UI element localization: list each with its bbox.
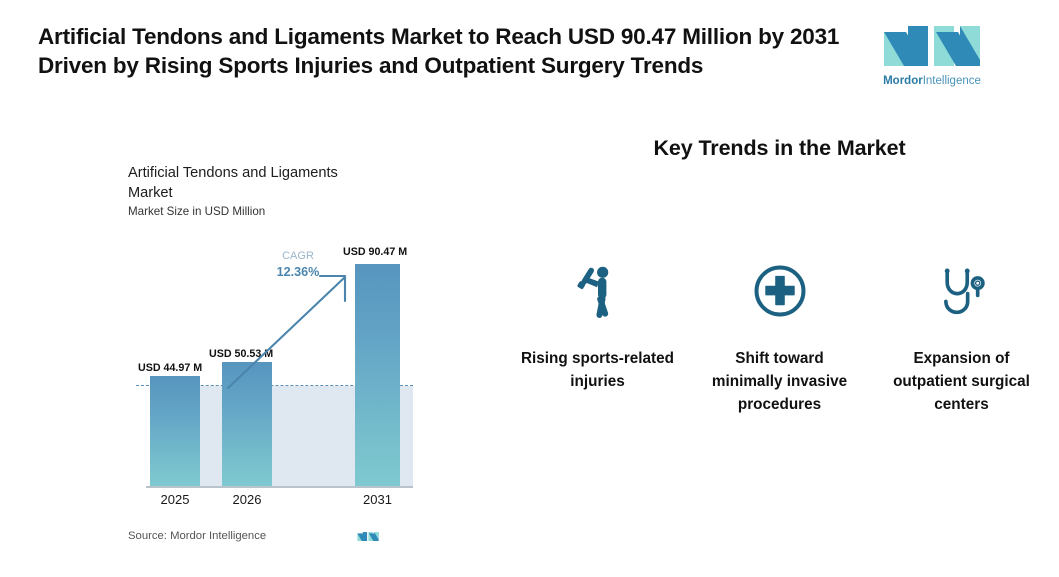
trend-label-outpatient-centers: Expansion of outpatient surgical centers bbox=[882, 347, 1042, 416]
trend-label-minimally-invasive: Shift toward minimally invasive procedur… bbox=[700, 347, 860, 416]
mordor-logo-mark-small bbox=[356, 528, 380, 545]
trend-card-sports-injuries: Rising sports-related injuries bbox=[510, 260, 685, 393]
trend-card-minimally-invasive: Shift toward minimally invasive procedur… bbox=[692, 260, 867, 416]
growth-arrow-icon bbox=[224, 256, 360, 396]
chart-source-text: Source: Mordor Intelligence bbox=[128, 530, 266, 542]
x-tick-2025: 2025 bbox=[150, 492, 200, 507]
medical-cross-circle-icon bbox=[750, 260, 810, 322]
chart-subtitle: Market Size in USD Million bbox=[128, 205, 265, 218]
bar-2025 bbox=[150, 376, 200, 486]
trend-label-sports-injuries: Rising sports-related injuries bbox=[518, 347, 678, 393]
stethoscope-icon bbox=[932, 260, 992, 322]
page-title: Artificial Tendons and Ligaments Market … bbox=[38, 22, 853, 80]
page-header: Artificial Tendons and Ligaments Market … bbox=[0, 0, 1059, 120]
market-size-chart: Artificial Tendons and Ligaments Market … bbox=[110, 150, 430, 560]
mordor-logo-mark bbox=[878, 20, 986, 72]
bar-2031 bbox=[355, 264, 400, 486]
key-trends-list: Rising sports-related injuries Shift tow… bbox=[510, 260, 1049, 416]
chart-source-row: Source: Mordor Intelligence bbox=[128, 528, 413, 548]
key-trends-title: Key Trends in the Market bbox=[500, 136, 1059, 161]
logo-word-mordor: Mordor bbox=[883, 75, 923, 87]
chart-axis-line bbox=[146, 486, 413, 488]
mordor-logo-wordmark: MordorIntelligence bbox=[878, 74, 986, 88]
x-tick-2026: 2026 bbox=[222, 492, 272, 507]
mordor-intelligence-logo: MordorIntelligence bbox=[878, 20, 986, 94]
sports-batter-icon bbox=[568, 260, 628, 322]
bar-label-2025: USD 44.97 M bbox=[138, 362, 202, 374]
x-tick-2031: 2031 bbox=[355, 492, 400, 507]
trend-card-outpatient-centers: Expansion of outpatient surgical centers bbox=[874, 260, 1049, 416]
chart-plot-area: USD 44.97 M USD 50.53 M USD 90.47 M CAGR… bbox=[128, 246, 413, 504]
logo-word-intelligence: Intelligence bbox=[923, 75, 981, 87]
chart-title: Artificial Tendons and Ligaments Market bbox=[128, 163, 378, 203]
key-trends-panel: Key Trends in the Market bbox=[500, 130, 1059, 530]
